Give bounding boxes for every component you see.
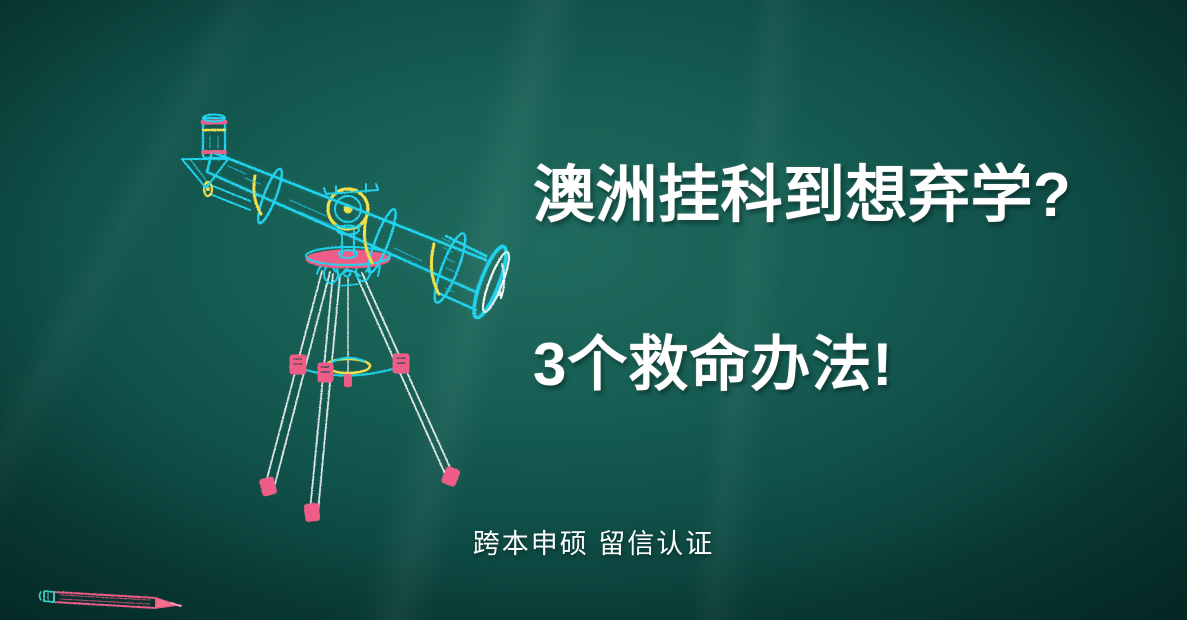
subheadline-line-1: 3个救命办法! [533,333,1153,398]
finder-scope [204,182,250,210]
focus-wheel [328,189,368,229]
chalk-pencil-illustration [30,578,200,618]
tripod-legs [265,271,453,512]
poster-canvas: 澳洲挂科到想弃学? 3个救命办法! 跨本申硕 留信认证 [0,0,1187,620]
headline-line-1: 澳洲挂科到想弃学? [533,163,1153,230]
telescope-illustration [150,96,570,546]
plumb-weight [344,374,352,387]
headline-block: 澳洲挂科到想弃学? [533,163,1153,230]
footer-tagline: 跨本申硕 留信认证 [0,522,1187,561]
brace-ring [293,358,408,376]
subheadline-block: 3个救命办法! [533,333,1153,398]
tripod-feet [259,466,460,522]
eyepiece [203,115,225,159]
